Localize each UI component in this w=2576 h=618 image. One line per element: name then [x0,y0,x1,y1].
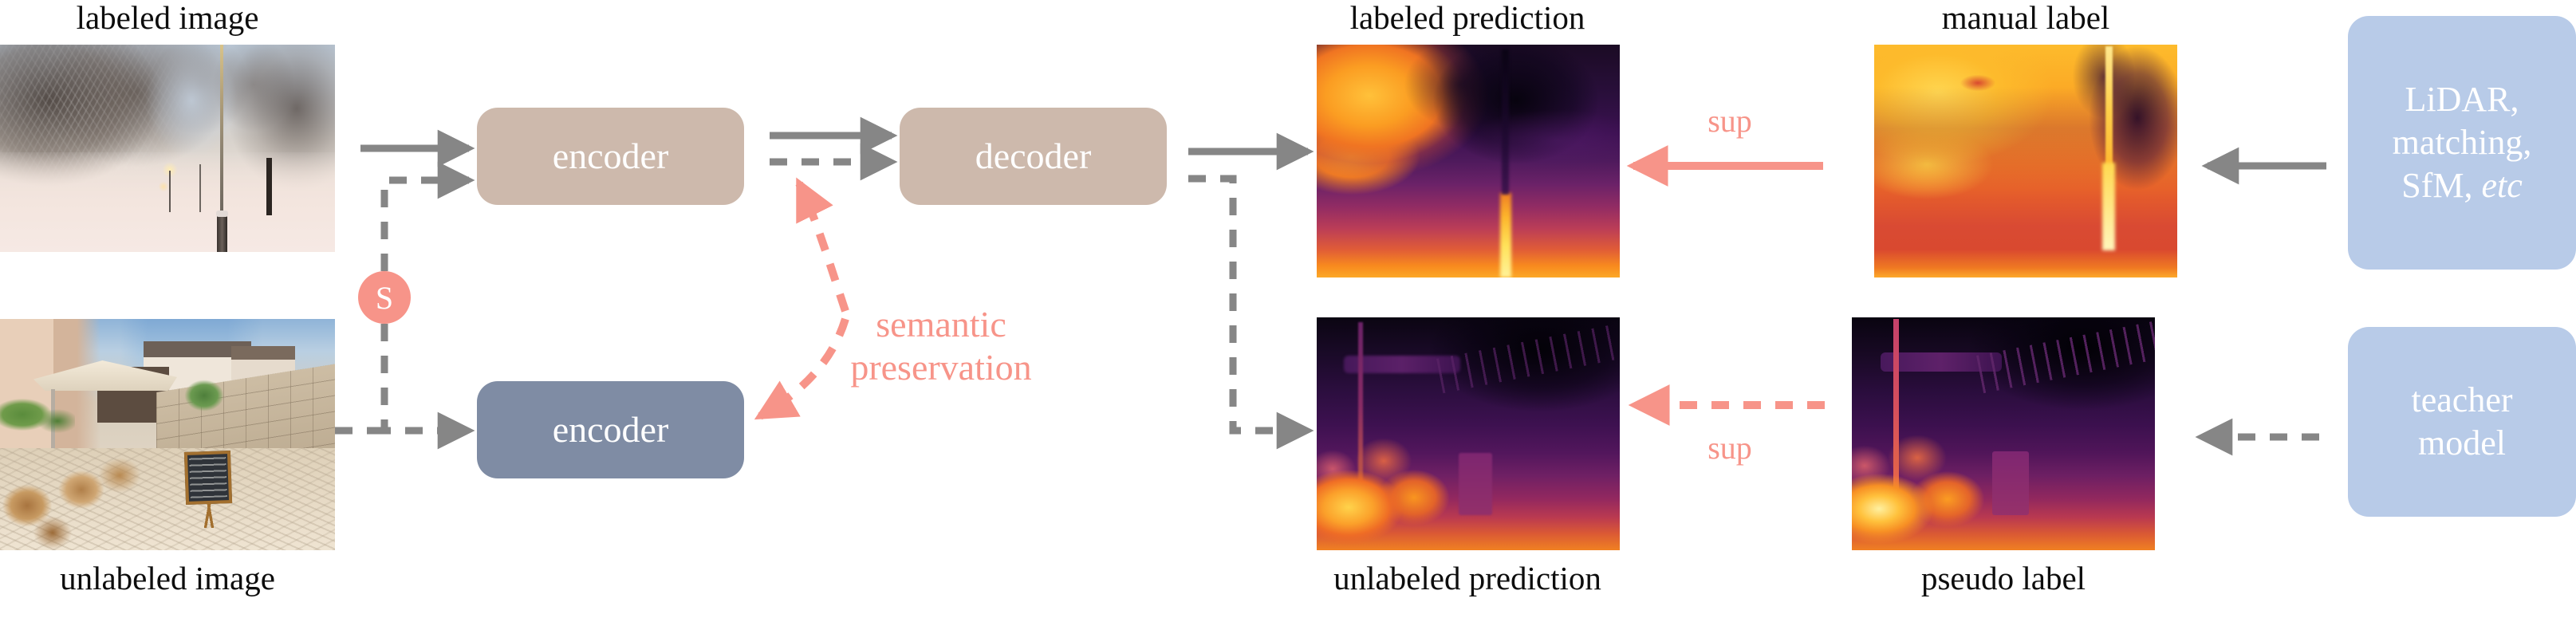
supervision-source-lidar-box[interactable]: LiDAR, matching, SfM, etc [2348,16,2576,270]
tree-trunk-right [266,158,272,215]
labeled-image-photo [0,45,335,252]
foreground-pole-base [217,215,227,252]
pseudo-label-depthmap [1852,317,2155,550]
encoder-labeled-label: encoder [553,134,669,179]
caption-labeled-image: labeled image [0,2,335,34]
decoder-label: decoder [975,134,1092,179]
caption-manual-label: manual label [1858,2,2193,34]
cafe-chairs [0,437,160,550]
arrow-decoder-to-unlabeled-prediction [1188,179,1308,431]
manual-label-pole-base [2102,163,2115,250]
unlabeled-image-photo [0,319,335,550]
chalkboard-legs [188,502,230,528]
arrow-s-to-encoder-labeled [384,180,469,271]
supervision-source-teacher-box[interactable]: teacher model [2348,327,2576,517]
caption-unlabeled-image: unlabeled image [0,562,335,595]
lidar-line-1: LiDAR, [2405,78,2519,121]
prediction-pole-dark [1502,49,1509,195]
figure-canvas: labeled image [0,0,2576,618]
encoder-unlabeled-box[interactable]: encoder [477,381,744,478]
lidar-line-3: SfM, etc [2401,164,2523,207]
sup-label-top: sup [1678,102,1782,140]
strong-augmentation-node[interactable]: S [358,271,411,324]
chalkboard-text-lines [189,455,227,498]
arrow-semantic-preservation-up [799,183,845,311]
hanging-plants [0,397,75,442]
manual-label-depthmap [1874,45,2177,278]
unlabeled-prediction-depthmap [1317,317,1620,550]
manual-label-pole [2105,46,2113,174]
semantic-preservation-line-2: preservation [850,347,1031,388]
tree-green [182,376,228,415]
lamp-post-mid [199,164,201,212]
caption-unlabeled-prediction: unlabeled prediction [1300,562,1635,595]
encoder-labeled-box[interactable]: encoder [477,108,744,205]
lidar-line-2: matching, [2393,121,2532,164]
teacher-line-2: model [2418,422,2506,465]
encoder-unlabeled-label: encoder [553,407,669,452]
labeled-prediction-depthmap [1317,45,1620,278]
etc-italic: etc [2481,166,2522,205]
semantic-preservation-label: semantic preservation [821,303,1061,390]
foreground-pole [220,45,223,215]
lamp-post-far [169,171,171,212]
decoder-box[interactable]: decoder [900,108,1167,205]
arrow-s-to-encoder-unlabeled [384,324,469,431]
prediction-pole-highlight [1500,193,1511,278]
foreground-pole-cap [216,211,228,217]
teacher-line-1: teacher [2412,379,2513,422]
caption-pseudo-label: pseudo label [1852,562,2155,595]
sup-label-bottom: sup [1678,429,1782,466]
semantic-preservation-line-1: semantic [876,304,1006,344]
caption-labeled-prediction: labeled prediction [1300,2,1635,34]
